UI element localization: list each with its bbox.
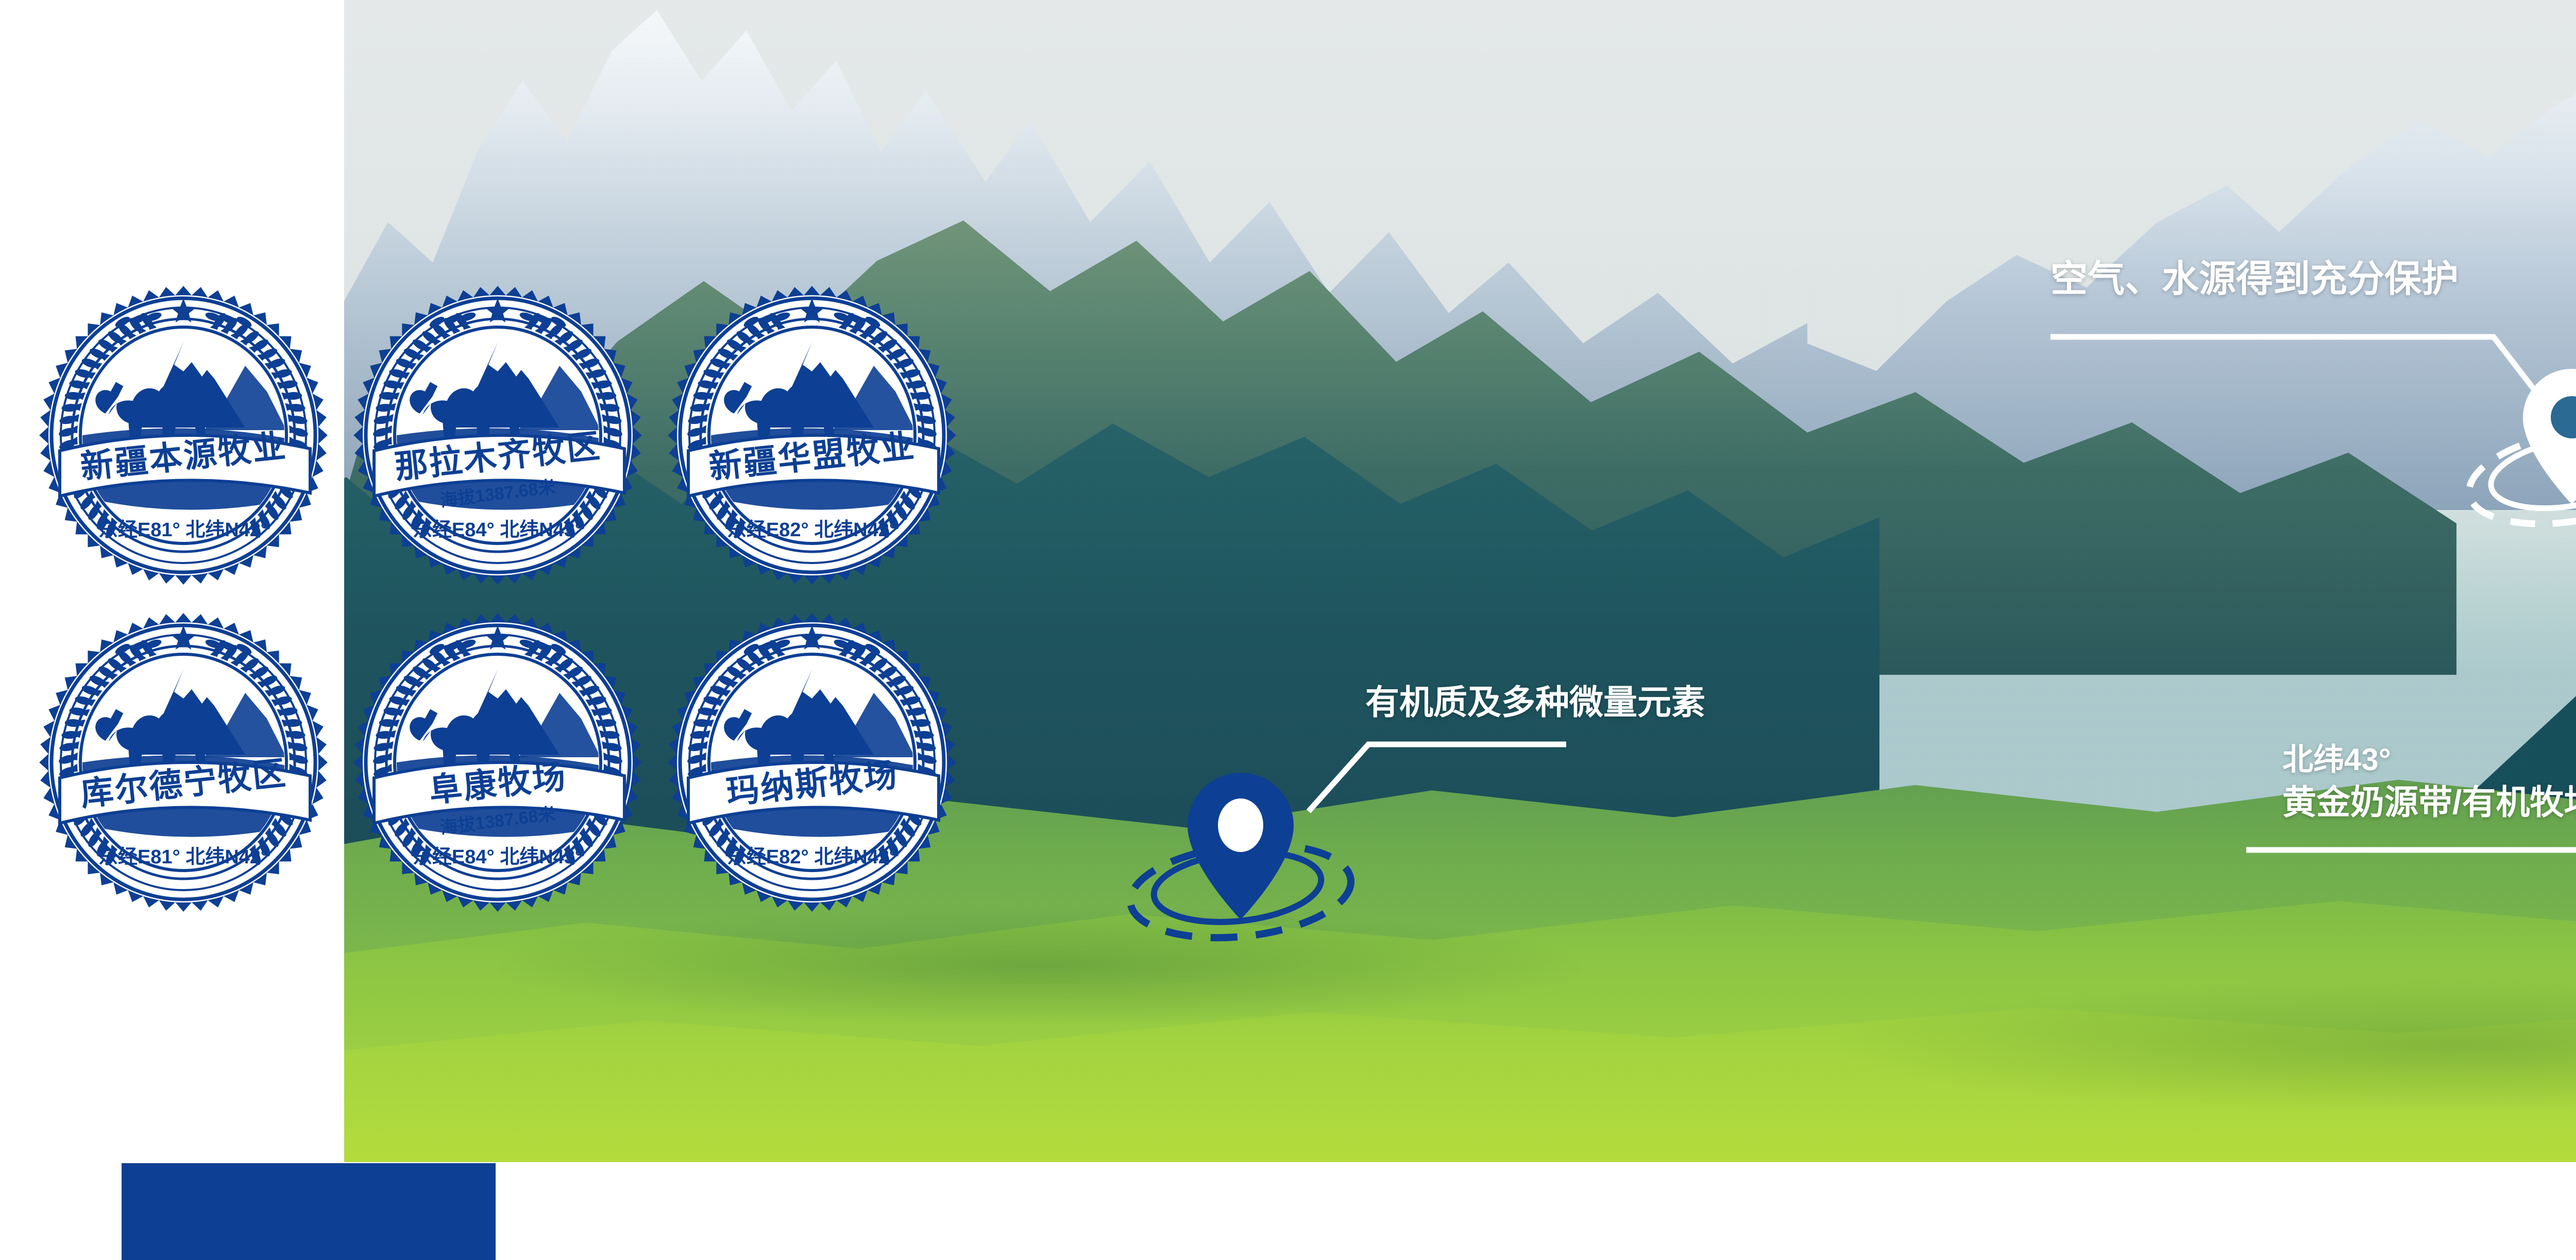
callout-air-water-label: 空气、水源得到充分保护	[2050, 258, 2459, 301]
callout-golden-milk-belt-leader-line	[2241, 835, 2576, 963]
badge-coordinates: 东经E82° 北纬N42°	[657, 841, 967, 869]
callout-golden-milk-belt-line1: 北纬43°	[2282, 742, 2576, 778]
badge-item[interactable]: 那拉木齐牧区 海拔1387.68米 东经E84° 北纬N43°	[343, 281, 652, 590]
callout-golden-milk-belt-line2: 黄金奶源带/有机牧场	[2282, 782, 2576, 823]
badge-coordinates: 东经E81° 北纬N42°	[29, 514, 338, 542]
callout-organic-matter-label: 有机质及多种微量元素	[1365, 683, 1705, 723]
map-pin-icon-air-water[interactable]	[2452, 340, 2576, 536]
badge-coordinates: 东经E81° 北纬N42°	[29, 841, 338, 869]
pasture-badge-grid: 新疆本源牧业 东经E81° 北纬N42° 那拉木齐牧区 海拔1387.68米 东…	[29, 281, 1059, 925]
callout-air-water[interactable]: 空气、水源得到充分保护	[2050, 258, 2459, 301]
badge-item[interactable]: 玛纳斯牧场 东经E82° 北纬N42°	[657, 608, 967, 917]
bottom-blue-bar	[122, 1163, 496, 1260]
map-pin-icon-organic-matter[interactable]	[1108, 752, 1376, 958]
badge-item[interactable]: 阜康牧场 海拔1387.68米 东经E84° 北纬N43°	[343, 608, 652, 917]
badge-coordinates: 东经E84° 北纬N43°	[343, 514, 652, 542]
badge-coordinates: 东经E82° 北纬N42°	[657, 514, 967, 542]
callout-organic-matter[interactable]: 有机质及多种微量元素	[1365, 683, 1705, 723]
badge-item[interactable]: 新疆华盟牧业 东经E82° 北纬N42°	[657, 281, 967, 590]
badge-item[interactable]: 库尔德宁牧区 东经E81° 北纬N42°	[29, 608, 338, 917]
badge-item[interactable]: 新疆本源牧业 东经E81° 北纬N42°	[29, 281, 338, 590]
badge-coordinates: 东经E84° 北纬N43°	[343, 841, 652, 869]
callout-golden-milk-belt[interactable]: 北纬43° 黄金奶源带/有机牧场	[2282, 742, 2576, 823]
